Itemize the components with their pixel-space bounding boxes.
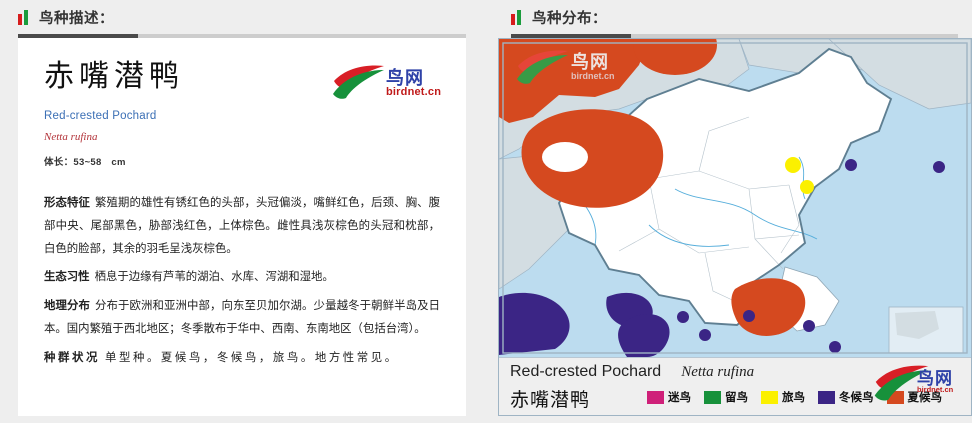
bird-length: 体长：53~58 cm <box>44 154 184 168</box>
legend-item-vagrant[interactable]: 迷鸟 <box>647 389 691 405</box>
map-caption-sci-name: Netta rufina <box>681 364 754 380</box>
legend-label-winter: 冬候鸟 <box>839 389 874 405</box>
section-population-text: 单型种。夏候鸟，冬候鸟，旅鸟。地方性常见。 <box>105 350 399 364</box>
bird-description-panel: 鸟种描述： 赤嘴潜鸭 Red-crested Pochard Netta ruf… <box>0 0 480 38</box>
bird-description-card: 赤嘴潜鸭 Red-crested Pochard Netta rufina 体长… <box>18 38 466 416</box>
section-habits-text: 栖息于边缘有芦苇的湖泊、水库、泻湖和湿地。 <box>95 269 334 283</box>
section-morphology: 形态特征繁殖期的雄性有锈红色的头部，头冠偏淡，嘴鲜红色，后颈、胸、腹部中央、尾部… <box>44 191 440 259</box>
section-distribution-label: 地理分布 <box>44 298 90 312</box>
section-habits-label: 生态习性 <box>44 269 90 283</box>
birdnet-swoosh-icon <box>515 49 571 89</box>
distribution-map[interactable]: 鸟网 birdnet.cn <box>499 39 971 357</box>
legend-label-resident: 留鸟 <box>725 389 748 405</box>
distribution-header-label: 鸟种分布： <box>532 7 607 28</box>
legend-swatch-vagrant <box>647 391 664 404</box>
birdnet-logo-en: birdnet.cn <box>386 86 441 98</box>
map-caption-latin-row: Red-crested PochardNetta rufina <box>510 363 754 381</box>
legend-item-winter[interactable]: 冬候鸟 <box>818 389 874 405</box>
description-header-label: 鸟种描述： <box>39 7 114 28</box>
legend-item-resident[interactable]: 留鸟 <box>704 389 748 405</box>
birdnet-logo: 鸟网 birdnet.cn <box>332 64 440 108</box>
distribution-header: 鸟种分布： <box>493 0 972 34</box>
bird-title-row: 赤嘴潜鸭 Red-crested Pochard Netta rufina 体长… <box>44 60 440 168</box>
bars-icon <box>511 10 523 25</box>
bird-names: 赤嘴潜鸭 Red-crested Pochard Netta rufina 体长… <box>44 60 184 168</box>
legend-swatch-passage <box>761 391 778 404</box>
bird-en-name: Red-crested Pochard <box>44 110 184 122</box>
bird-description-text: 形态特征繁殖期的雄性有锈红色的头部，头冠偏淡，嘴鲜红色，后颈、胸、腹部中央、尾部… <box>44 191 440 369</box>
corner-birdnet-logo: 鸟网 birdnet.cn <box>871 364 967 408</box>
legend-label-vagrant: 迷鸟 <box>668 389 691 405</box>
section-morphology-text: 繁殖期的雄性有锈红色的头部，头冠偏淡，嘴鲜红色，后颈、胸、腹部中央、尾部黑色，胁… <box>44 195 440 255</box>
bird-distribution-panel: 鸟种分布： <box>493 0 972 38</box>
legend-swatch-winter <box>818 391 835 404</box>
map-watermark-logo: 鸟网 birdnet.cn <box>515 49 625 93</box>
map-watermark-en: birdnet.cn <box>571 71 615 81</box>
description-header: 鸟种描述： <box>0 0 480 34</box>
distribution-map-card: 鸟网 birdnet.cn Red-crested PochardNetta r… <box>498 38 972 416</box>
section-population: 种群状况单型种。夏候鸟，冬候鸟，旅鸟。地方性常见。 <box>44 346 440 369</box>
map-inset <box>889 307 963 353</box>
map-caption-en-name: Red-crested Pochard <box>510 363 661 380</box>
section-distribution: 地理分布分布于欧洲和亚洲中部，向东至贝加尔湖。少量越冬于朝鲜半岛及日本。国内繁殖… <box>44 294 440 340</box>
map-legend-bar: Red-crested PochardNetta rufina 赤嘴潜鸭 迷鸟 … <box>499 357 971 415</box>
map-caption-cn-name: 赤嘴潜鸭 <box>510 385 590 412</box>
legend-label-passage: 旅鸟 <box>782 389 805 405</box>
section-morphology-label: 形态特征 <box>44 195 90 209</box>
bars-icon <box>18 10 30 25</box>
bird-cn-name: 赤嘴潜鸭 <box>44 60 184 93</box>
section-population-label: 种群状况 <box>44 350 100 364</box>
birdnet-swoosh-icon <box>332 64 386 104</box>
legend-item-passage[interactable]: 旅鸟 <box>761 389 805 405</box>
corner-logo-en: birdnet.cn <box>917 385 953 394</box>
bird-sci-name: Netta rufina <box>44 131 184 143</box>
section-habits: 生态习性栖息于边缘有芦苇的湖泊、水库、泻湖和湿地。 <box>44 265 440 288</box>
legend-swatch-resident <box>704 391 721 404</box>
section-distribution-text: 分布于欧洲和亚洲中部，向东至贝加尔湖。少量越冬于朝鲜半岛及日本。国内繁殖于西北地… <box>44 298 440 335</box>
